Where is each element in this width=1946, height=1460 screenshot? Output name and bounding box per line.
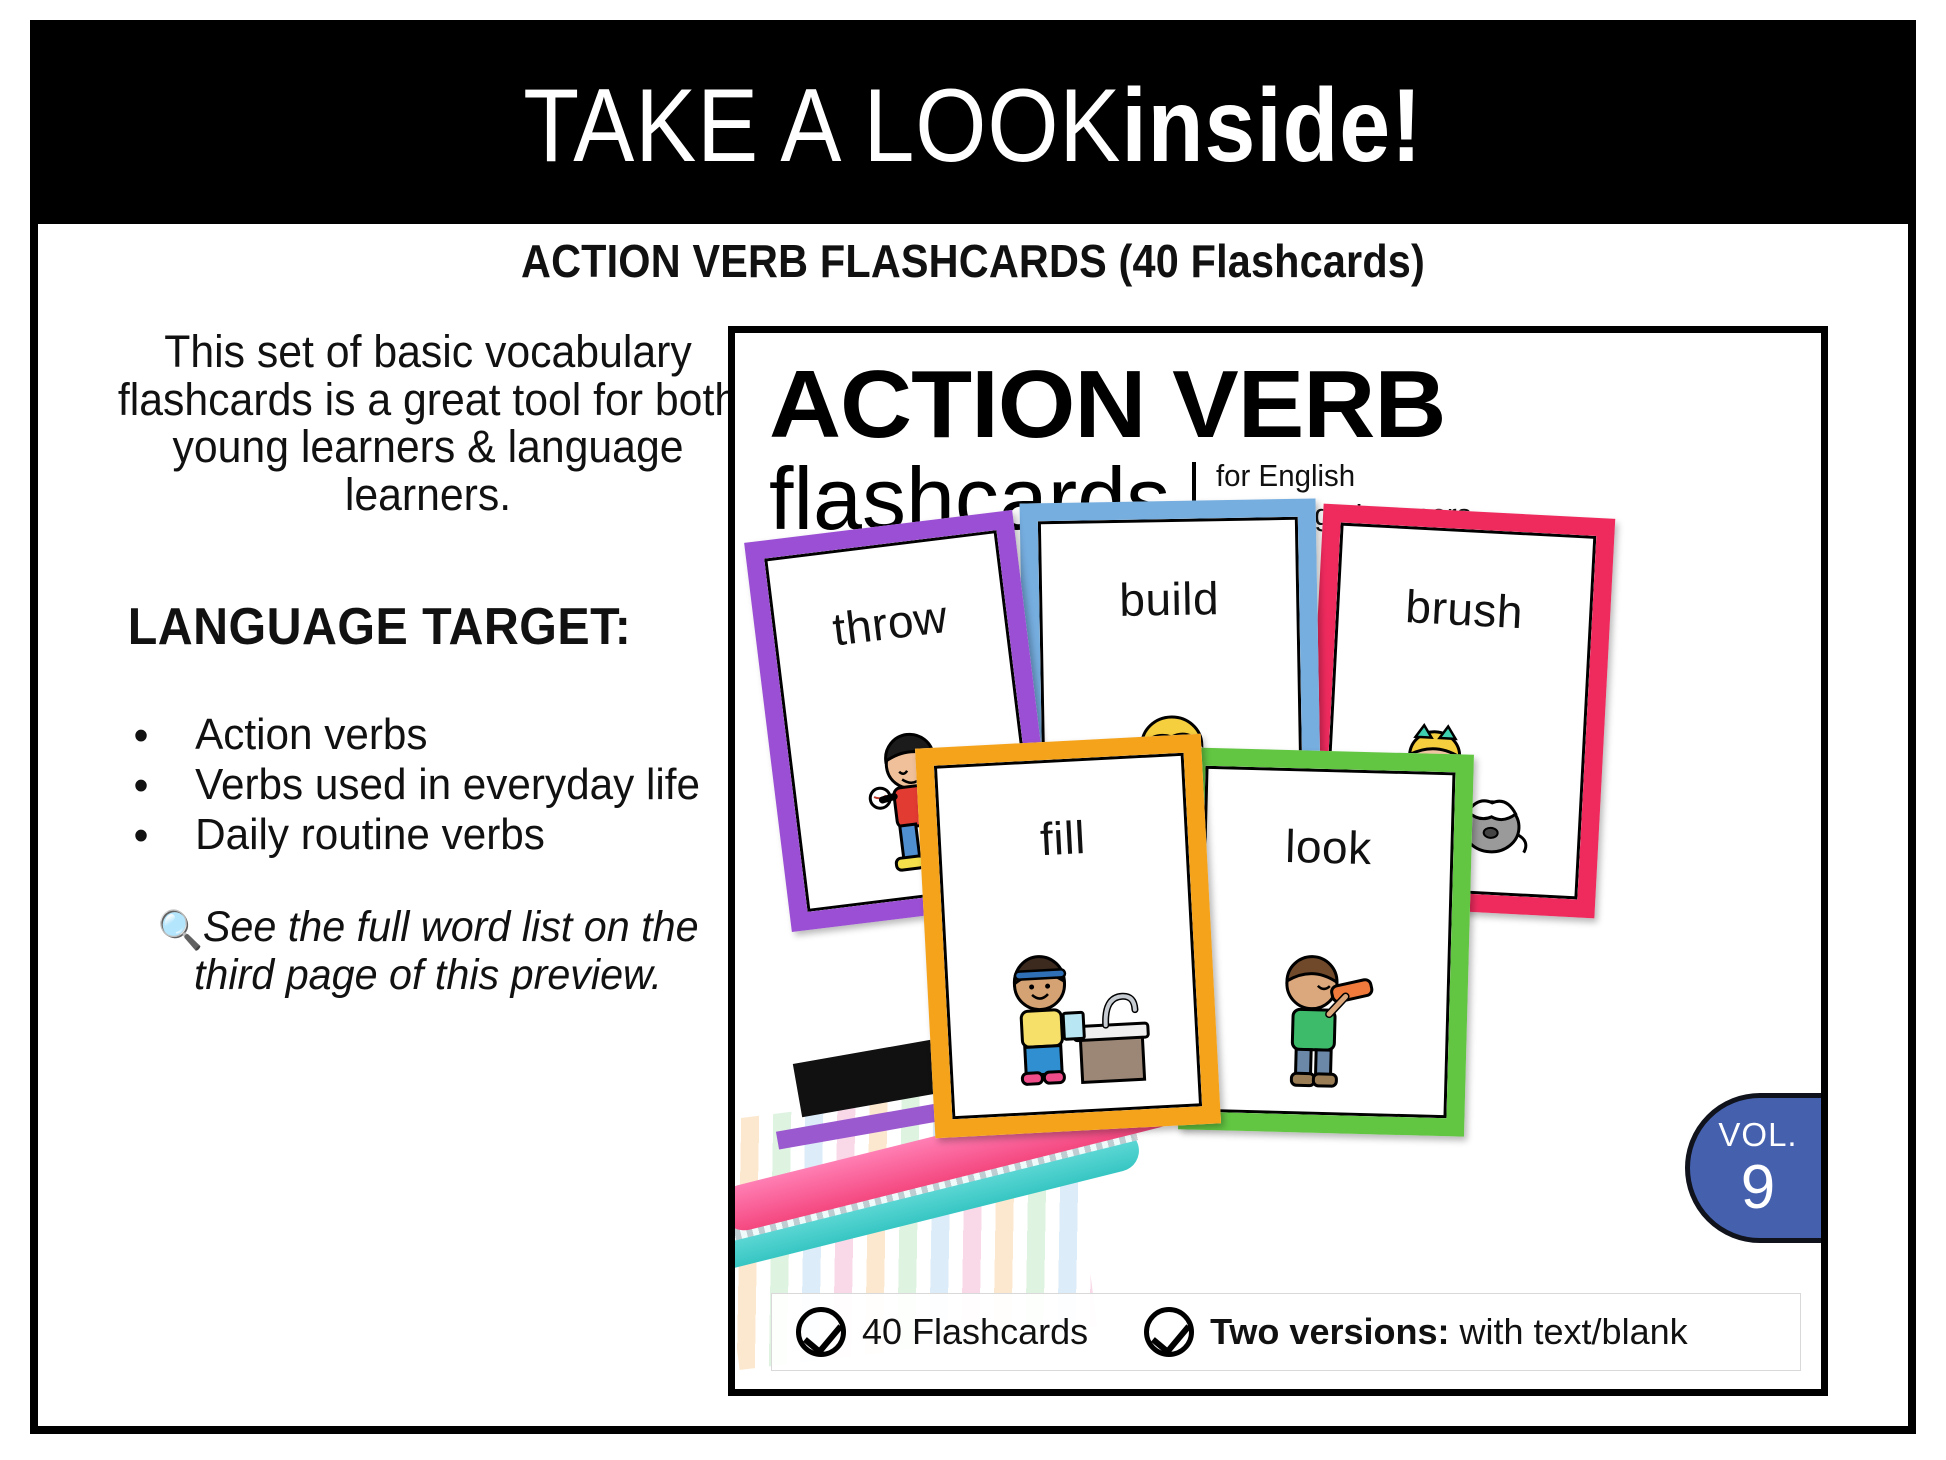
feature-banner-item-1: 40 Flashcards	[796, 1307, 1088, 1357]
flashcard-illustration-look	[1200, 912, 1449, 1095]
cover-audience-line-1: for English	[1216, 457, 1471, 496]
volume-badge-label: VOL.	[1718, 1118, 1797, 1151]
product-preview-panel: ACTION VERB flashcards for English Langu…	[728, 326, 1828, 1396]
volume-badge-number: 9	[1741, 1157, 1775, 1219]
magnifier-icon: 🔍	[157, 910, 202, 953]
flashcard-look: look	[1178, 747, 1474, 1136]
slide-canvas: TAKE A LOOKinside! ACTION VERB FLASHCARD…	[0, 0, 1946, 1460]
feature-banner-item-1-label: 40 Flashcards	[862, 1311, 1088, 1353]
feature-banner-item-2-rest: with text/blank	[1450, 1311, 1688, 1352]
flashcard-inner: look	[1197, 766, 1456, 1118]
feature-banner-item-2-bold: Two versions:	[1210, 1311, 1449, 1352]
language-target-list: • Action verbs • Verbs used in everyday …	[98, 711, 758, 859]
header-bar: TAKE A LOOKinside!	[38, 28, 1908, 224]
checkmark-icon	[796, 1307, 846, 1357]
word-list-note-text: See the full word list on the third page…	[194, 903, 699, 999]
intro-paragraph: This set of basic vocabulary flashcards …	[115, 328, 742, 519]
left-column: This set of basic vocabulary flashcards …	[98, 328, 758, 999]
flashcard-word: brush	[1338, 576, 1590, 643]
flashcard-illustration-fill	[945, 902, 1198, 1095]
list-item: • Daily routine verbs	[126, 811, 733, 859]
bullet-marker-icon: •	[134, 812, 149, 860]
feature-banner-item-2-label: Two versions: with text/blank	[1210, 1311, 1688, 1353]
list-item: • Action verbs	[126, 711, 733, 759]
flashcard-word: throw	[773, 582, 1006, 663]
girl-filling-glass-at-sink-icon	[983, 935, 1161, 1094]
checkmark-icon	[1144, 1307, 1194, 1357]
list-item-label: Verbs used in everyday life	[195, 760, 700, 809]
page-title: TAKE A LOOKinside!	[523, 74, 1422, 178]
product-cover-image: ACTION VERB flashcards for English Langu…	[735, 333, 1821, 1389]
bullet-marker-icon: •	[134, 762, 149, 810]
page-title-light: TAKE A LOOK	[523, 68, 1121, 184]
boy-looking-through-telescope-icon	[1247, 940, 1401, 1094]
feature-banner: 40 Flashcards Two versions: with text/bl…	[771, 1293, 1801, 1371]
slide-frame: TAKE A LOOKinside! ACTION VERB FLASHCARD…	[30, 20, 1916, 1434]
cover-title-main: ACTION VERB	[769, 359, 1828, 450]
flashcard-word: fill	[940, 805, 1186, 872]
page-title-bold: inside!	[1121, 68, 1422, 184]
list-item-label: Daily routine verbs	[195, 810, 545, 859]
flashcard-fill: fill	[915, 734, 1221, 1138]
language-target-heading: LANGUAGE TARGET:	[98, 597, 712, 657]
flashcard-inner: fill	[934, 753, 1202, 1120]
volume-badge: VOL. 9	[1685, 1093, 1828, 1243]
flashcard-word: look	[1206, 816, 1451, 876]
word-list-note: 🔍See the full word list on the third pag…	[111, 903, 745, 999]
list-item-label: Action verbs	[195, 710, 427, 759]
subtitle: ACTION VERB FLASHCARDS (40 Flashcards)	[132, 234, 1815, 288]
feature-banner-item-2: Two versions: with text/blank	[1144, 1307, 1688, 1357]
list-item: • Verbs used in everyday life	[126, 761, 733, 809]
bullet-marker-icon: •	[134, 712, 149, 760]
flashcard-word: build	[1042, 570, 1297, 628]
